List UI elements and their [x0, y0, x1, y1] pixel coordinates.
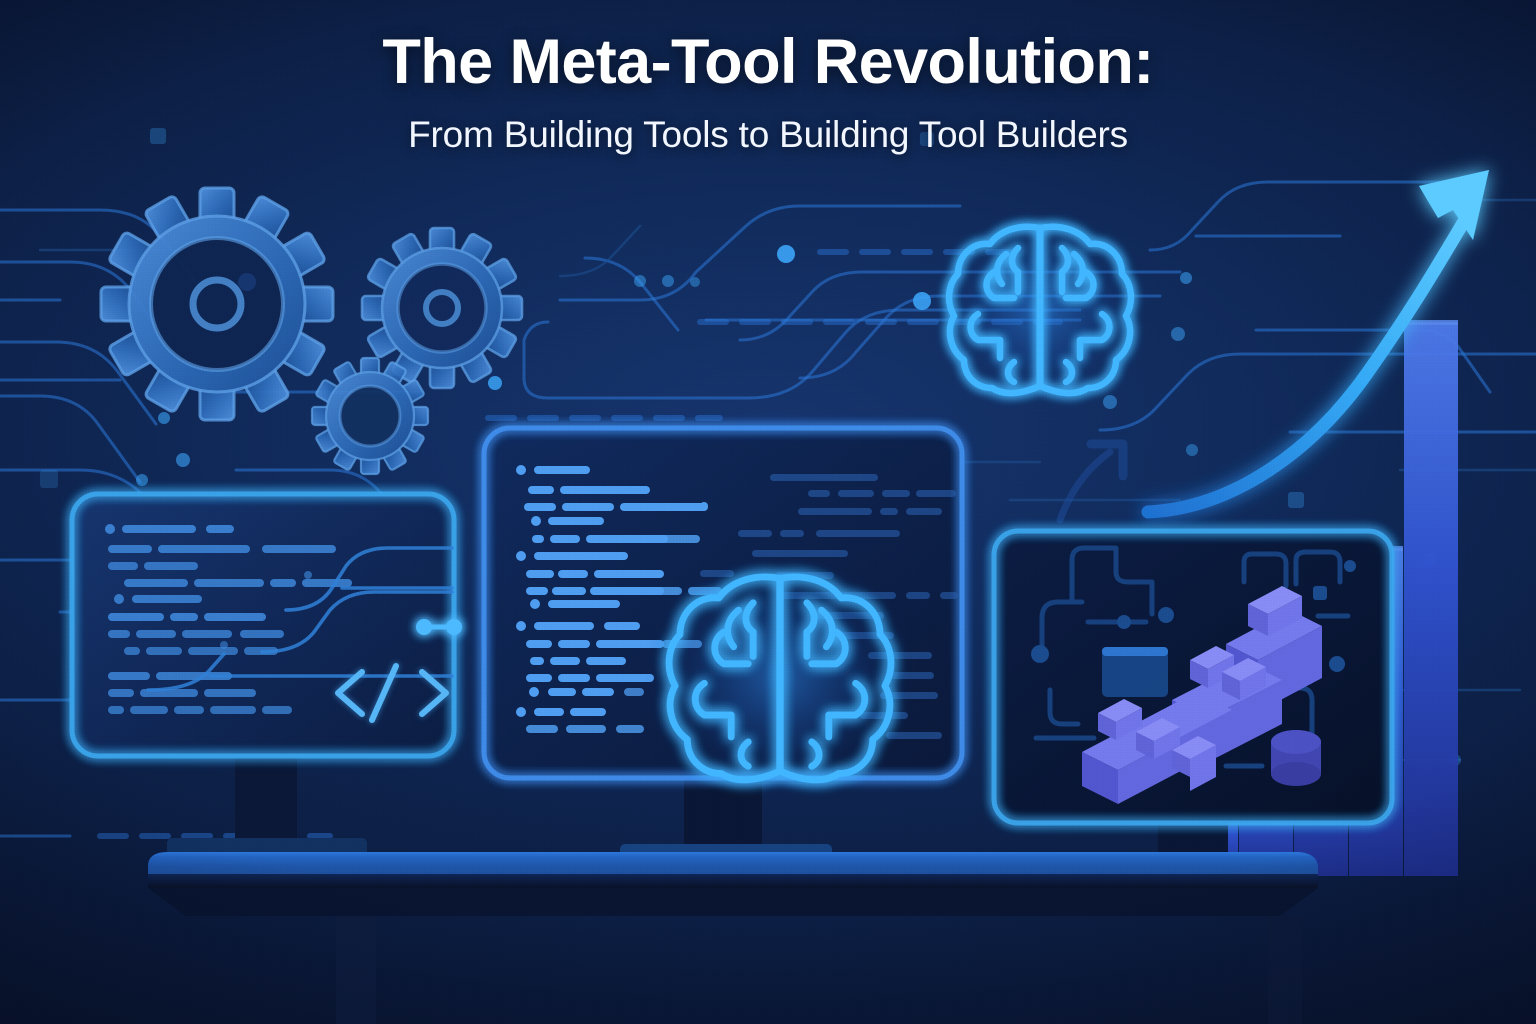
chart-bar [1404, 320, 1458, 876]
growth-arrow-dim [1060, 444, 1123, 520]
chart-bar [1294, 630, 1348, 876]
gear-medium [362, 228, 522, 388]
chart-bar [1184, 798, 1238, 876]
brain-icon-top [935, 212, 1145, 408]
page-title: The Meta-Tool Revolution: [0, 30, 1536, 96]
chart-bar [1349, 546, 1403, 876]
chart-bar [1239, 736, 1293, 876]
page-subtitle: From Building Tools to Building Tool Bui… [0, 114, 1536, 156]
title-block: The Meta-Tool Revolution: From Building … [0, 30, 1536, 156]
gear-large [101, 188, 333, 420]
illustration-canvas: The Meta-Tool Revolution: From Building … [0, 0, 1536, 1024]
